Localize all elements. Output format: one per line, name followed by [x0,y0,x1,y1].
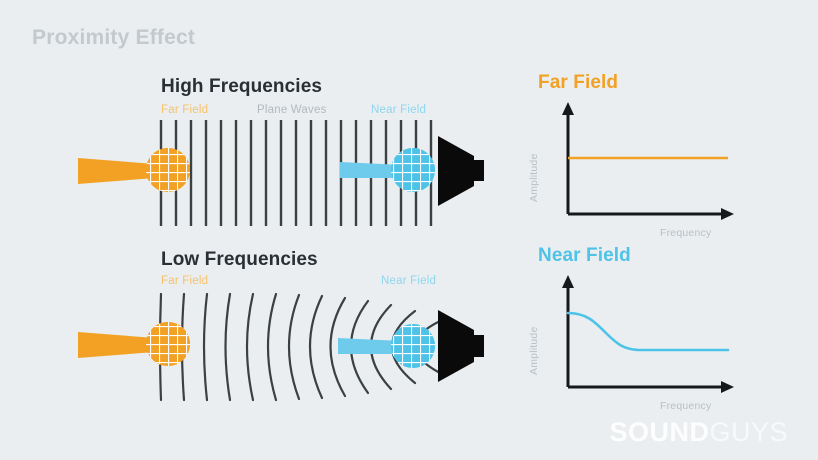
chart-far-field: Far Field Amplitude Frequency [528,72,768,242]
x-axis-label-far: Frequency [660,227,711,239]
chart-near-field: Near Field Amplitude Frequency [528,245,768,415]
y-axis-label-far: Amplitude [528,154,540,203]
microphone-near-field-blue [340,148,435,192]
soundguys-watermark: SOUNDGUYS [609,419,788,446]
x-axis-arrowhead [721,381,734,393]
y-axis-label-near: Amplitude [528,327,540,376]
x-axis-arrowhead [721,208,734,220]
series-near-field-response [568,313,728,350]
watermark-light: GUYS [709,417,788,447]
x-axis-label-near: Frequency [660,400,711,412]
label-near-field-low: Near Field [381,275,436,287]
near-field-plot [528,271,758,401]
diagram-high-frequencies [60,118,500,228]
label-near-field-high: Near Field [371,104,426,116]
y-axis-arrowhead [562,102,574,115]
label-far-field-high: Far Field [161,104,208,116]
watermark-bold: SOUND [609,417,709,447]
loudspeaker-source [438,136,484,206]
microphone-far-field-orange [78,322,190,366]
section-title-low-frequencies: Low Frequencies [161,249,318,271]
label-far-field-low: Far Field [161,275,208,287]
y-axis-arrowhead [562,275,574,288]
far-field-plot [528,98,758,228]
chart-title-far-field: Far Field [538,72,618,94]
chart-title-near-field: Near Field [538,245,631,267]
label-plane-waves-high: Plane Waves [257,104,327,116]
microphone-far-field-orange [78,148,190,192]
slide-canvas: Proximity Effect High Frequencies Far Fi… [0,0,818,460]
page-title: Proximity Effect [32,26,195,50]
section-title-high-frequencies: High Frequencies [161,76,322,98]
diagram-low-frequencies [60,290,500,402]
loudspeaker-source [438,310,484,382]
